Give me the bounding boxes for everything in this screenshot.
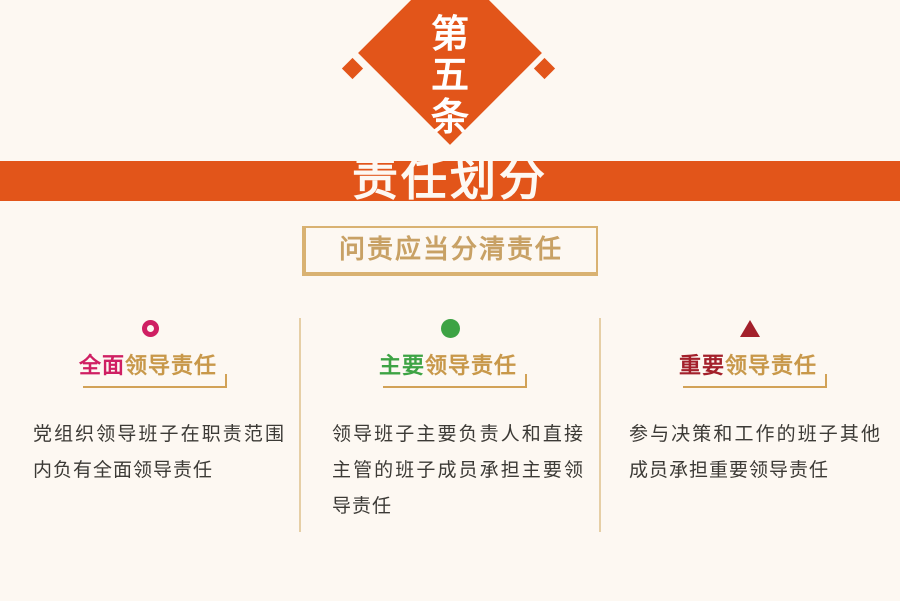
column-heading-important: 重要领导责任 bbox=[679, 353, 821, 379]
responsibility-column-important: 重要领导责任 参与决策和工作的班子其他成员承担重要领导责任 bbox=[600, 305, 900, 545]
section-banner-bar bbox=[0, 161, 900, 201]
column-heading-primary: 主要领导责任 bbox=[379, 353, 521, 379]
column-heading-overall: 全面领导责任 bbox=[79, 353, 221, 379]
column-body-important: 参与决策和工作的班子其他成员承担重要领导责任 bbox=[619, 417, 881, 489]
infographic-page: 第 五 条 责任划分 问责应当分清责任 全面领导责任 党组织领导班子在职责范 bbox=[0, 0, 900, 601]
subtitle-frame: 问责应当分清责任 bbox=[302, 226, 598, 276]
heading-rest-important: 领导责任 bbox=[725, 353, 817, 378]
header-emblem-area: 第 五 条 bbox=[0, 0, 900, 161]
ring-marker-icon bbox=[142, 317, 159, 339]
heading-keyword-important: 重要 bbox=[679, 353, 725, 378]
dot-marker-icon bbox=[441, 317, 460, 339]
responsibility-column-overall: 全面领导责任 党组织领导班子在职责范围内负有全面领导责任 bbox=[0, 305, 300, 545]
heading-keyword-primary: 主要 bbox=[379, 353, 425, 378]
right-diamond-ornament-icon bbox=[534, 58, 555, 79]
subtitle-text: 问责应当分清责任 bbox=[339, 237, 563, 263]
column-body-primary: 领导班子主要负责人和直接主管的班子成员承担主要领导责任 bbox=[316, 417, 584, 525]
triangle-marker-icon bbox=[740, 317, 760, 339]
heading-rest-primary: 领导责任 bbox=[425, 353, 517, 378]
heading-keyword-overall: 全面 bbox=[79, 353, 125, 378]
responsibility-column-primary: 主要领导责任 领导班子主要负责人和直接主管的班子成员承担主要领导责任 bbox=[300, 305, 600, 545]
column-body-overall: 党组织领导班子在职责范围内负有全面领导责任 bbox=[15, 417, 285, 489]
responsibility-columns: 全面领导责任 党组织领导班子在职责范围内负有全面领导责任 主要领导责任 领导班子… bbox=[0, 305, 900, 545]
diamond-badge-shape bbox=[358, 0, 542, 145]
heading-rest-overall: 领导责任 bbox=[125, 353, 217, 378]
left-diamond-ornament-icon bbox=[342, 58, 363, 79]
